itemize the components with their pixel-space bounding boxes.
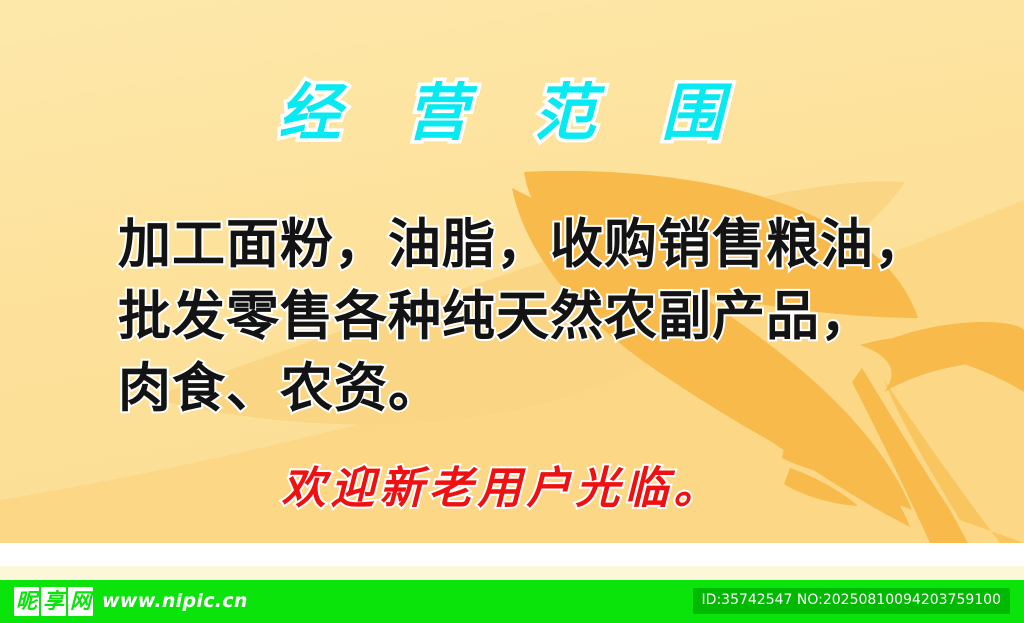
- welcome-block: 欢迎新老用户光临。: [0, 465, 1024, 513]
- separator-cream: [0, 566, 1024, 580]
- body-line-2: 批发零售各种纯天然农副产品，: [118, 281, 978, 353]
- image-id-badge: ID:35742547 NO:20250810094203759100: [693, 588, 1010, 614]
- welcome-message: 欢迎新老用户光临。: [282, 463, 723, 514]
- body-line-1: 加工面粉，油脂，收购销售粮油，: [118, 209, 978, 281]
- poster-image: 经 营 范 围 加工面粉，油脂，收购销售粮油， 批发零售各种纯天然农副产品， 肉…: [0, 0, 1024, 623]
- logo-char-2: 享: [41, 587, 66, 616]
- page-title: 经 营 范 围: [0, 82, 1024, 144]
- body-copy-block: 加工面粉，油脂，收购销售粮油， 批发零售各种纯天然农副产品， 肉食、农资。: [118, 209, 978, 425]
- footer-brand[interactable]: 昵 享 网 www.nipic.cn: [14, 586, 248, 616]
- nipic-logo[interactable]: 昵 享 网: [14, 587, 93, 616]
- brand-url-label[interactable]: www.nipic.cn: [102, 586, 248, 616]
- separator-white: [0, 543, 1024, 566]
- body-line-3: 肉食、农资。: [118, 353, 978, 425]
- logo-char-3: 网: [68, 587, 93, 616]
- poster-artboard: 经 营 范 围 加工面粉，油脂，收购销售粮油， 批发零售各种纯天然农副产品， 肉…: [0, 0, 1024, 543]
- logo-char-1: 昵: [14, 587, 39, 616]
- watermark-footer: 昵 享 网 www.nipic.cn ID:35742547 NO:202508…: [0, 580, 1024, 623]
